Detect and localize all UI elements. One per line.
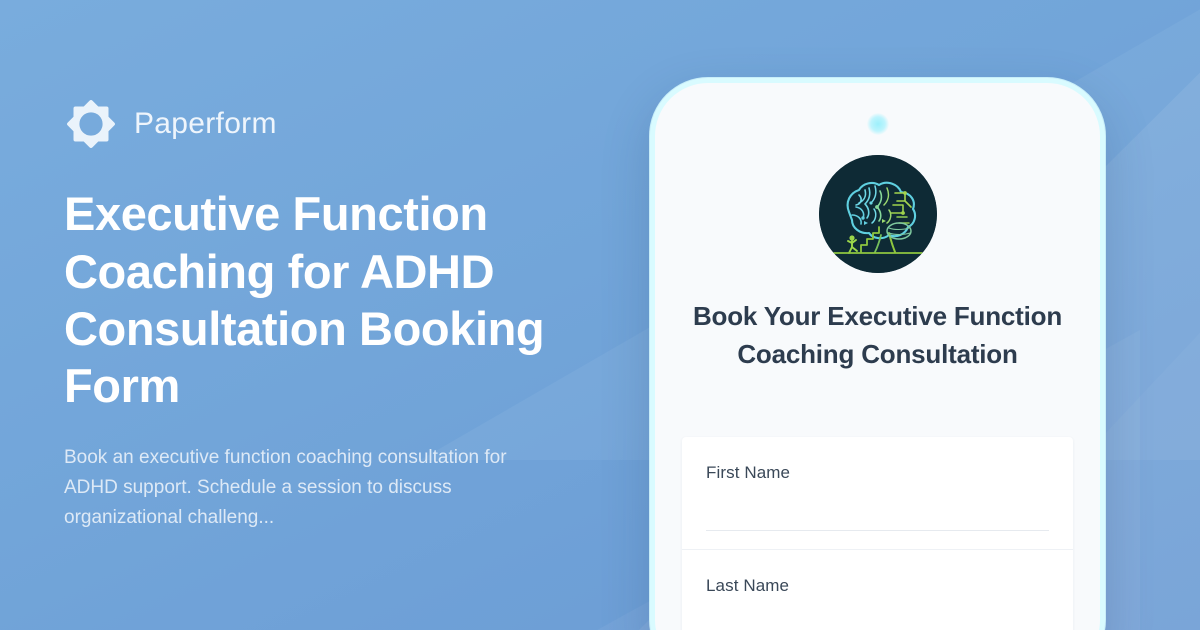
form-field-first-name[interactable]: First Name bbox=[682, 437, 1073, 549]
page-title: Executive Function Coaching for ADHD Con… bbox=[64, 185, 604, 414]
brand-logo: Paperform bbox=[64, 97, 624, 151]
hero-panel: Paperform Executive Function Coaching fo… bbox=[64, 0, 624, 630]
camera-glow-dot-icon bbox=[867, 113, 889, 135]
field-label-first-name: First Name bbox=[706, 463, 1049, 483]
paperform-petal-mark-icon bbox=[64, 97, 118, 151]
form-card: First Name Last Name bbox=[682, 437, 1073, 630]
field-label-last-name: Last Name bbox=[706, 576, 1049, 596]
brand-name: Paperform bbox=[134, 107, 277, 141]
page-description: Book an executive function coaching cons… bbox=[64, 443, 564, 533]
phone-mockup: Book Your Executive Function Coaching Co… bbox=[650, 78, 1105, 630]
form-title: Book Your Executive Function Coaching Co… bbox=[687, 298, 1068, 373]
circuit-brain-stairs-logo-icon bbox=[819, 155, 937, 273]
form-field-last-name[interactable]: Last Name bbox=[682, 549, 1073, 630]
field-underline-first-name bbox=[706, 530, 1049, 531]
